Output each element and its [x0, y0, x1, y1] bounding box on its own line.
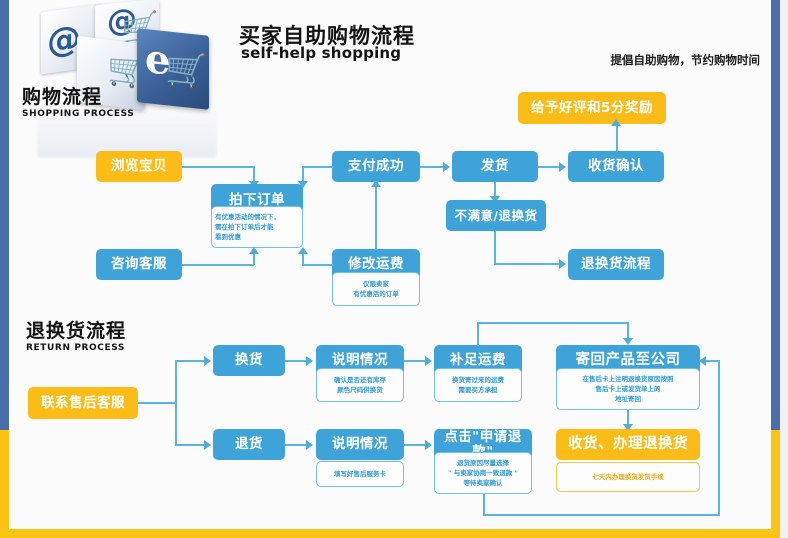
connector-extra-up: [477, 322, 479, 346]
connector-refund-right: [285, 444, 307, 446]
cube-blue: e 🛒: [137, 28, 209, 110]
section-title-cn: 退换货流程: [26, 322, 126, 342]
node-explain-2[interactable]: 说明情况: [316, 429, 404, 460]
node-confirm[interactable]: 收货确认: [568, 151, 664, 182]
node-reward[interactable]: 给予好评和5分奖励: [518, 92, 666, 124]
frame-border-right-blue: [771, 0, 780, 430]
arrow-down-send-back: [623, 338, 633, 345]
node-return-process[interactable]: 退换货流程: [568, 249, 664, 280]
connector-pay-to-ship: [420, 166, 444, 168]
connector-loop-bottom: [483, 514, 720, 516]
arrow-right-return-process: [559, 259, 566, 269]
connector-fee-up: [302, 253, 304, 265]
node-pay-success[interactable]: 支付成功: [332, 151, 420, 182]
arrow-up-place-order-a: [249, 247, 259, 254]
page-title-en: self-help shopping: [241, 44, 401, 62]
connector-pay-down: [302, 166, 304, 182]
connector-fee-to-pay: [375, 186, 377, 250]
connector-explain1-right: [404, 360, 426, 362]
connector-unsat-down: [494, 231, 496, 264]
arrow-right-apply-refund: [425, 440, 432, 450]
arrow-right-explain-1: [306, 356, 313, 366]
note-place-order: 有优惠活动的情况下， 需在拍下订单后才能 看到优惠: [211, 206, 303, 248]
section-title-cn: 购物流程: [22, 88, 134, 108]
connector-branch-trunk: [175, 360, 177, 446]
arrow-up-place-order-b: [298, 247, 308, 254]
node-unsatisfied[interactable]: 不满意/退换货: [446, 200, 546, 231]
section-title-en: SHOPPING PROCESS: [22, 109, 134, 119]
arrow-up-pay-success: [371, 180, 381, 187]
connector-extra-over: [477, 322, 629, 324]
connector-cs-up: [253, 253, 255, 265]
frame-border-right-yellow: [771, 430, 780, 538]
arrow-right-extra-shipping: [425, 356, 432, 366]
connector-sendback-down: [627, 322, 629, 339]
node-receive-handle[interactable]: 收货、办理退换货: [556, 429, 700, 460]
node-contact-cs[interactable]: 咨询客服: [96, 249, 182, 280]
connector-confirm-to-reward: [616, 124, 618, 154]
section-title-en: RETURN PROCESS: [26, 343, 126, 353]
connector-exchange-right: [285, 360, 307, 362]
connector-branch-top: [175, 360, 205, 362]
connector-unsat-right: [494, 263, 560, 265]
arrow-right-exchange: [204, 356, 211, 366]
note-apply-refund: 退货原因尽量选择 " 与卖家协商一致退款 " 等待卖家确认: [434, 452, 532, 494]
section-heading-shopping: 购物流程 SHOPPING PROCESS: [22, 88, 134, 119]
frame-border-left-yellow: [0, 430, 9, 538]
connector-browse-down: [253, 166, 255, 182]
note-send-back: 在售后卡上注明退换货原因按照 售后卡上或发货单上的 地址寄回: [556, 368, 700, 410]
shopping-cart-icon: 🛒: [165, 51, 207, 89]
frame-border-left-blue: [0, 0, 9, 430]
connector-loop-right: [718, 360, 720, 515]
note-receive-handle: 七天内办理换货发货手续: [556, 462, 700, 492]
arrow-left-send-back: [699, 356, 706, 366]
node-contact-after-sales[interactable]: 联系售后客服: [28, 387, 138, 419]
note-explain-1: 确认是否还有库存 颜色尺码供换货: [316, 368, 404, 402]
connector-cs-right: [182, 264, 254, 266]
node-ship[interactable]: 发货: [452, 151, 538, 182]
header-tagline: 提倡自助购物，节约购物时间: [611, 52, 761, 68]
connector-browse-right: [182, 166, 254, 168]
connector-applyrefund-down: [483, 494, 485, 516]
infographic-page: @ @ 🛒 🛒 e 🛒 买家自助购物流程 self-help shopping …: [0, 0, 788, 538]
connector-explain2-right: [404, 444, 426, 446]
section-heading-return: 退换货流程 RETURN PROCESS: [26, 322, 126, 353]
connector-aftersales-right: [138, 402, 176, 404]
connector-loop-in: [706, 360, 720, 362]
frame-border-bottom-yellow: [0, 529, 788, 538]
note-modify-fee: 仅限卖家 有优惠活的订单: [332, 272, 420, 306]
note-explain-2: 填写好售后服务卡: [316, 461, 404, 487]
arrow-up-reward: [611, 119, 621, 126]
connector-branch-bottom: [175, 444, 205, 446]
node-browse[interactable]: 浏览宝贝: [96, 151, 182, 182]
arrow-right-confirm: [559, 162, 566, 172]
at-sign-icon: @: [47, 21, 81, 60]
arrow-right-refund: [204, 440, 211, 450]
node-refund[interactable]: 退货: [213, 429, 285, 460]
connector-fee-left: [302, 264, 334, 266]
arrow-right-explain-2: [306, 440, 313, 450]
node-exchange[interactable]: 换货: [213, 345, 285, 376]
connector-ship-to-confirm: [538, 166, 560, 168]
frame-outer-padding: [780, 0, 788, 538]
note-extra-shipping: 换货寄过来的运费 需要买方承担: [434, 368, 522, 402]
arrow-right-ship: [443, 162, 450, 172]
connector-pay-left: [302, 166, 334, 168]
